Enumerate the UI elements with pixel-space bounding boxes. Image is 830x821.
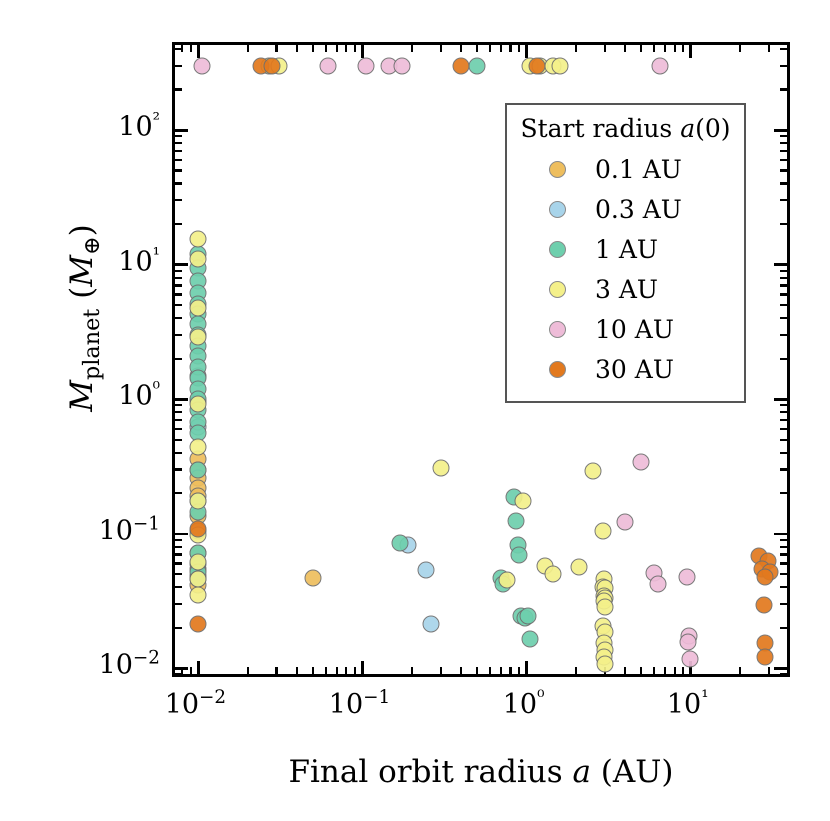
x-tick	[653, 667, 655, 674]
legend-title-symbol: a	[680, 114, 695, 143]
legend-swatch-cell	[519, 321, 595, 338]
x-tick	[664, 667, 666, 674]
y-tick	[175, 411, 182, 413]
legend-item-label: 0.1 AU	[595, 155, 682, 184]
x-tick	[575, 45, 577, 52]
data-point	[190, 553, 207, 570]
x-tick	[325, 45, 327, 52]
legend-entries: 0.1 AU0.3 AU1 AU3 AU10 AU30 AU	[519, 149, 732, 389]
y-axis-label-open: (	[64, 287, 100, 309]
legend-item-label: 30 AU	[595, 355, 674, 384]
x-tick	[460, 45, 462, 52]
x-tick	[345, 45, 347, 52]
x-tick	[518, 45, 520, 52]
y-tick	[780, 404, 787, 406]
y-tick	[780, 169, 787, 171]
data-point	[507, 512, 524, 529]
y-tick	[780, 452, 787, 454]
y-tick	[175, 439, 182, 441]
data-point	[422, 615, 439, 632]
x-tick	[411, 45, 413, 52]
data-point	[190, 395, 207, 412]
y-axis-label: Mplanet (M⊕)	[64, 8, 100, 628]
legend-title-pre: Start radius	[520, 114, 680, 143]
x-tick	[197, 661, 200, 674]
x-tick	[575, 667, 577, 674]
x-axis-label-symbol: a	[572, 754, 590, 790]
y-tick	[175, 468, 182, 470]
y-tick	[175, 533, 188, 536]
x-tick	[197, 45, 200, 58]
x-tick	[768, 667, 770, 674]
y-tick	[780, 358, 787, 360]
x-tick	[689, 45, 692, 58]
y-tick	[780, 142, 787, 144]
data-point	[757, 568, 774, 585]
data-point	[499, 571, 516, 588]
x-tick	[624, 45, 626, 52]
y-tick	[175, 586, 182, 588]
x-tick	[460, 667, 462, 674]
x-tick	[190, 667, 192, 674]
x-tick	[312, 667, 314, 674]
x-tick	[440, 45, 442, 52]
x-tick	[604, 45, 606, 52]
y-tick	[175, 199, 182, 201]
data-point	[305, 569, 322, 586]
x-tick	[682, 667, 684, 674]
y-tick	[780, 150, 787, 152]
data-point	[418, 561, 435, 578]
legend-color-swatch	[549, 361, 566, 378]
x-tick	[489, 45, 491, 52]
y-tick	[175, 150, 182, 152]
data-point	[596, 655, 613, 672]
x-tick	[476, 45, 478, 52]
x-axis-label-pre: Final orbit radius	[288, 754, 572, 790]
y-tick	[780, 317, 787, 319]
data-point	[432, 459, 449, 476]
data-point	[190, 587, 207, 604]
y-tick	[780, 468, 787, 470]
x-tick	[489, 667, 491, 674]
data-point	[263, 58, 280, 75]
y-tick	[780, 284, 787, 286]
x-tick	[476, 667, 478, 674]
legend-title: Start radius a(0)	[519, 114, 732, 143]
data-point	[679, 568, 696, 585]
y-tick	[780, 223, 787, 225]
x-tick	[325, 667, 327, 674]
y-tick	[175, 404, 182, 406]
x-tick	[354, 45, 356, 52]
y-tick	[175, 334, 182, 336]
y-tick	[780, 673, 787, 675]
y-tick	[175, 419, 182, 421]
y-tick	[175, 277, 182, 279]
x-tick-label: 10¹	[667, 691, 709, 718]
y-tick	[175, 452, 182, 454]
y-tick	[774, 129, 787, 132]
x-tick	[674, 667, 676, 674]
y-axis-label-earth-symbol: ⊕	[79, 236, 105, 255]
y-tick	[780, 199, 787, 201]
y-tick	[175, 673, 182, 675]
data-point	[649, 575, 666, 592]
x-tick	[509, 667, 511, 674]
y-tick	[175, 263, 188, 266]
data-point	[190, 439, 207, 456]
x-tick-label: 10⁰	[503, 691, 545, 718]
legend-swatch-cell	[519, 361, 595, 378]
y-tick	[175, 270, 182, 272]
legend-item-1-au[interactable]: 1 AU	[519, 229, 732, 269]
data-point	[394, 58, 411, 75]
data-point	[652, 58, 669, 75]
data-point	[522, 631, 539, 648]
y-tick	[780, 492, 787, 494]
y-tick	[175, 88, 182, 90]
y-axis-label-close: )	[64, 224, 100, 236]
y-axis-label-subscript: planet	[79, 309, 105, 380]
y-tick	[175, 48, 182, 50]
data-point	[520, 608, 537, 625]
data-point	[469, 58, 486, 75]
x-tick-label: 10−1	[329, 691, 390, 718]
legend-color-swatch	[549, 241, 566, 258]
x-tick	[768, 45, 770, 52]
y-tick	[175, 159, 182, 161]
x-axis-label-post: (AU)	[591, 754, 674, 790]
x-tick	[336, 45, 338, 52]
x-tick	[361, 45, 364, 58]
data-point	[596, 599, 613, 616]
y-tick	[175, 603, 182, 605]
data-point	[594, 523, 611, 540]
y-tick	[780, 411, 787, 413]
legend-item-label: 3 AU	[595, 275, 658, 304]
y-tick	[175, 284, 182, 286]
x-tick	[525, 661, 528, 674]
y-tick	[774, 398, 787, 401]
data-point	[190, 461, 207, 478]
legend-swatch-cell	[519, 241, 595, 258]
y-tick	[780, 539, 787, 541]
legend-color-swatch	[549, 161, 566, 178]
x-tick	[361, 661, 364, 674]
y-tick	[774, 263, 787, 266]
x-tick	[509, 45, 511, 52]
x-tick-label: 10−2	[165, 691, 226, 718]
data-point	[679, 633, 696, 650]
x-tick	[788, 667, 790, 674]
x-tick	[788, 45, 790, 52]
y-tick	[780, 553, 787, 555]
x-tick	[653, 45, 655, 52]
y-tick	[780, 277, 787, 279]
y-tick	[175, 573, 182, 575]
y-tick	[780, 88, 787, 90]
data-point	[357, 58, 374, 75]
y-tick	[780, 627, 787, 629]
x-tick	[682, 45, 684, 52]
data-point	[511, 546, 528, 563]
y-tick	[780, 439, 787, 441]
y-tick	[774, 533, 787, 536]
x-tick	[312, 45, 314, 52]
data-point	[757, 648, 774, 665]
y-tick	[780, 182, 787, 184]
y-tick	[780, 586, 787, 588]
data-point	[633, 453, 650, 470]
x-tick	[296, 667, 298, 674]
legend-swatch-cell	[519, 201, 595, 218]
data-point	[190, 251, 207, 268]
y-tick	[780, 65, 787, 67]
y-tick	[780, 546, 787, 548]
data-point	[190, 615, 207, 632]
data-point	[190, 329, 207, 346]
data-point	[190, 571, 207, 588]
y-tick	[175, 553, 182, 555]
data-point	[545, 566, 562, 583]
x-tick	[275, 45, 277, 52]
y-tick	[780, 293, 787, 295]
y-tick	[780, 573, 787, 575]
x-tick	[674, 45, 676, 52]
y-tick	[780, 428, 787, 430]
y-tick	[175, 562, 182, 564]
data-point	[190, 493, 207, 510]
y-tick	[780, 304, 787, 306]
y-tick	[175, 135, 182, 137]
x-tick	[275, 667, 277, 674]
y-tick	[175, 667, 188, 670]
x-tick	[739, 667, 741, 674]
x-tick	[664, 45, 666, 52]
data-point	[528, 58, 545, 75]
x-tick	[739, 45, 741, 52]
y-tick	[780, 334, 787, 336]
legend-box: Start radius a(0) 0.1 AU0.3 AU1 AU3 AU10…	[505, 103, 746, 403]
x-tick	[336, 667, 338, 674]
legend-swatch-cell	[519, 281, 595, 298]
y-tick	[175, 223, 182, 225]
legend-item-10-au[interactable]: 10 AU	[519, 309, 732, 349]
legend-color-swatch	[549, 201, 566, 218]
y-tick	[780, 562, 787, 564]
legend-item-label: 1 AU	[595, 235, 658, 264]
y-tick	[175, 317, 182, 319]
legend-item-3-au[interactable]: 3 AU	[519, 269, 732, 309]
data-point	[617, 514, 634, 531]
data-point	[193, 58, 210, 75]
y-tick	[175, 293, 182, 295]
y-tick	[780, 270, 787, 272]
x-tick	[296, 45, 298, 52]
data-point	[320, 58, 337, 75]
y-axis-label-m: M	[64, 380, 100, 412]
scatter-figure: 10−210−110⁰10¹ 10−210−110⁰10¹10² Final o…	[0, 0, 830, 821]
x-axis-label: Final orbit radius a (AU)	[172, 754, 790, 790]
data-point	[190, 299, 207, 316]
x-tick	[354, 667, 356, 674]
legend-item-30-au[interactable]: 30 AU	[519, 349, 732, 389]
y-axis-label-m2: M	[64, 255, 100, 287]
y-tick-label: 10−2	[30, 652, 160, 679]
y-tick	[175, 627, 182, 629]
legend-item-0-1-au[interactable]: 0.1 AU	[519, 149, 732, 189]
legend-title-post: (0)	[695, 114, 730, 143]
data-point	[392, 534, 409, 551]
legend-color-swatch	[549, 281, 566, 298]
y-tick	[175, 182, 182, 184]
y-tick	[774, 667, 787, 670]
y-tick	[780, 419, 787, 421]
x-tick	[640, 45, 642, 52]
data-point	[514, 493, 531, 510]
legend-swatch-cell	[519, 161, 595, 178]
x-tick	[411, 667, 413, 674]
x-tick	[624, 667, 626, 674]
x-tick	[518, 667, 520, 674]
y-tick	[175, 492, 182, 494]
data-point	[756, 597, 773, 614]
y-tick	[175, 65, 182, 67]
data-point	[190, 231, 207, 248]
x-tick	[247, 45, 249, 52]
y-tick	[175, 358, 182, 360]
x-tick	[500, 667, 502, 674]
y-tick	[780, 603, 787, 605]
y-tick	[175, 539, 182, 541]
data-point	[552, 58, 569, 75]
data-point	[453, 58, 470, 75]
y-tick	[780, 135, 787, 137]
y-tick	[175, 304, 182, 306]
x-tick	[440, 667, 442, 674]
y-tick	[780, 159, 787, 161]
x-tick	[500, 45, 502, 52]
x-tick	[525, 45, 528, 58]
data-point	[585, 462, 602, 479]
x-tick	[190, 45, 192, 52]
legend-color-swatch	[549, 321, 566, 338]
x-tick	[345, 667, 347, 674]
data-point	[571, 558, 588, 575]
y-tick	[175, 398, 188, 401]
x-tick	[640, 667, 642, 674]
data-point	[190, 521, 207, 538]
y-tick	[175, 142, 182, 144]
y-tick	[175, 129, 188, 132]
legend-item-label: 10 AU	[595, 315, 674, 344]
data-point	[682, 650, 699, 667]
y-tick	[780, 48, 787, 50]
legend-item-label: 0.3 AU	[595, 195, 682, 224]
y-tick	[175, 428, 182, 430]
y-tick	[175, 169, 182, 171]
y-tick	[175, 546, 182, 548]
x-tick	[247, 667, 249, 674]
legend-item-0-3-au[interactable]: 0.3 AU	[519, 189, 732, 229]
